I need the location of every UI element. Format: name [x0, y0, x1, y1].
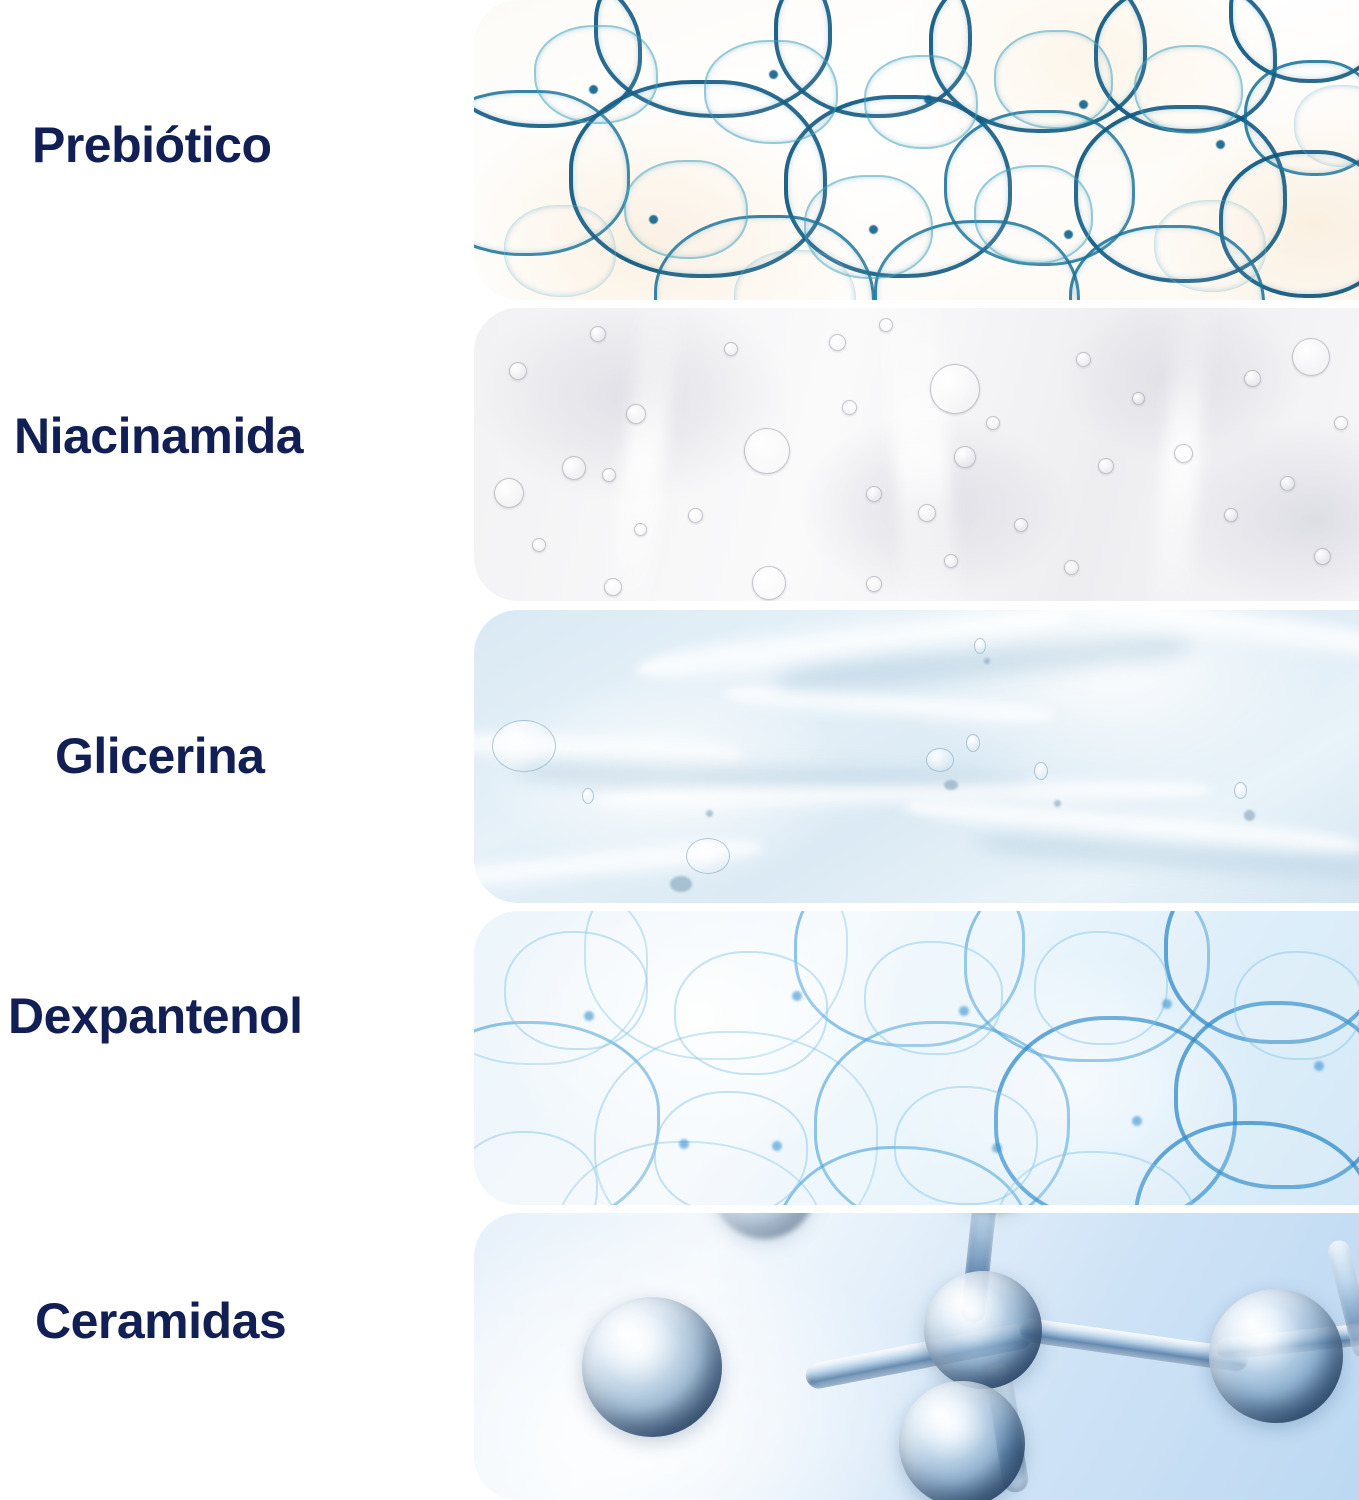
molecule-sphere	[899, 1381, 1025, 1500]
panel-ceramidas	[474, 1213, 1359, 1500]
ingredient-list-infographic: Prebiótico	[0, 0, 1359, 1500]
white-gel-bubbles-image	[474, 308, 1359, 601]
panel-prebiotico	[474, 0, 1359, 300]
panel-niacinamida	[474, 308, 1359, 601]
label-dexpantenol: Dexpantenol	[8, 991, 303, 1041]
molecule-sphere	[1209, 1289, 1343, 1423]
panel-dexpantenol	[474, 911, 1359, 1205]
teal-foam-network-image	[474, 0, 1359, 300]
label-prebiotico: Prebiótico	[32, 120, 271, 170]
panel-glicerina	[474, 610, 1359, 903]
label-ceramidas: Ceramidas	[35, 1296, 286, 1346]
molecule-spheres-image	[474, 1213, 1359, 1500]
blue-gel-texture-image	[474, 610, 1359, 903]
molecule-sphere	[582, 1297, 722, 1437]
label-glicerina: Glicerina	[55, 731, 265, 781]
label-niacinamida: Niacinamida	[14, 411, 303, 461]
molecule-sphere	[924, 1271, 1042, 1389]
blue-bubble-foam-image	[474, 911, 1359, 1205]
